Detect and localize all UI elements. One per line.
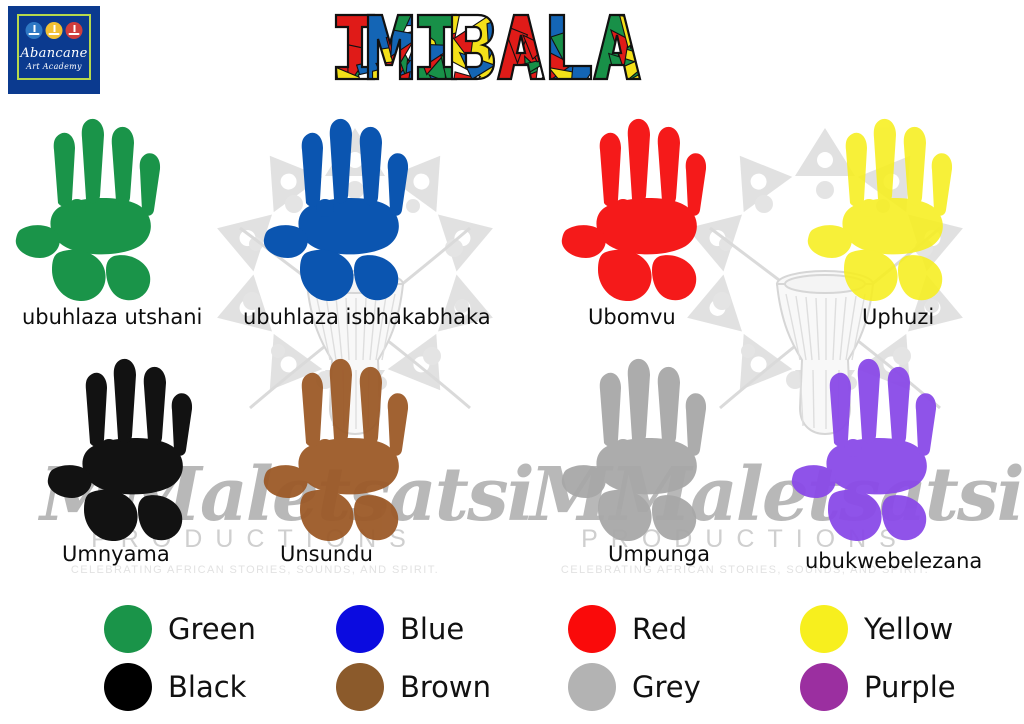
- legend-label-black: Black: [168, 670, 246, 704]
- legend-item-blue: Blue: [336, 605, 568, 653]
- legend-item-brown: Brown: [336, 663, 568, 711]
- hand-label-red: Ubomvu: [588, 305, 676, 329]
- legend-swatch-red-icon: [568, 605, 616, 653]
- color-legend: Green Blue Red Yellow Black Brown Grey: [104, 600, 1024, 716]
- poster-canvas: MMaletsatsi PRODUCTIONS CELEBRATING AFRI…: [0, 0, 1024, 724]
- legend-swatch-blue-icon: [336, 605, 384, 653]
- legend-item-yellow: Yellow: [800, 605, 1024, 653]
- legend-label-brown: Brown: [400, 670, 491, 704]
- hand-label-yellow: Uphuzi: [862, 305, 934, 329]
- handprint-black: [46, 352, 226, 547]
- legend-swatch-green-icon: [104, 605, 152, 653]
- legend-item-green: Green: [104, 605, 336, 653]
- handprint-purple: [790, 352, 970, 547]
- legend-label-red: Red: [632, 612, 687, 646]
- legend-label-purple: Purple: [864, 670, 956, 704]
- legend-swatch-grey-icon: [568, 663, 616, 711]
- legend-item-grey: Grey: [568, 663, 800, 711]
- legend-item-purple: Purple: [800, 663, 1024, 711]
- legend-item-red: Red: [568, 605, 800, 653]
- hand-label-black: Umnyama: [62, 542, 170, 566]
- legend-swatch-purple-icon: [800, 663, 848, 711]
- legend-label-grey: Grey: [632, 670, 701, 704]
- handprint-brown: [262, 352, 442, 547]
- legend-swatch-black-icon: [104, 663, 152, 711]
- hand-label-green: ubuhlaza utshani: [22, 305, 202, 329]
- hand-label-purple: ubukwebelezana: [805, 549, 982, 573]
- hand-label-brown: Unsundu: [280, 542, 373, 566]
- poster-title: [0, 4, 1024, 90]
- handprint-red: [560, 112, 740, 307]
- legend-swatch-brown-icon: [336, 663, 384, 711]
- handprint-yellow: [806, 112, 986, 307]
- handprint-green: [14, 112, 194, 307]
- hand-label-blue: ubuhlaza isbhakabhaka: [243, 305, 491, 329]
- handprint-blue: [262, 112, 442, 307]
- handprint-grey: [560, 352, 740, 547]
- legend-label-green: Green: [168, 612, 256, 646]
- legend-item-black: Black: [104, 663, 336, 711]
- legend-swatch-yellow-icon: [800, 605, 848, 653]
- hand-label-grey: Umpunga: [608, 542, 710, 566]
- legend-label-yellow: Yellow: [864, 612, 953, 646]
- legend-label-blue: Blue: [400, 612, 464, 646]
